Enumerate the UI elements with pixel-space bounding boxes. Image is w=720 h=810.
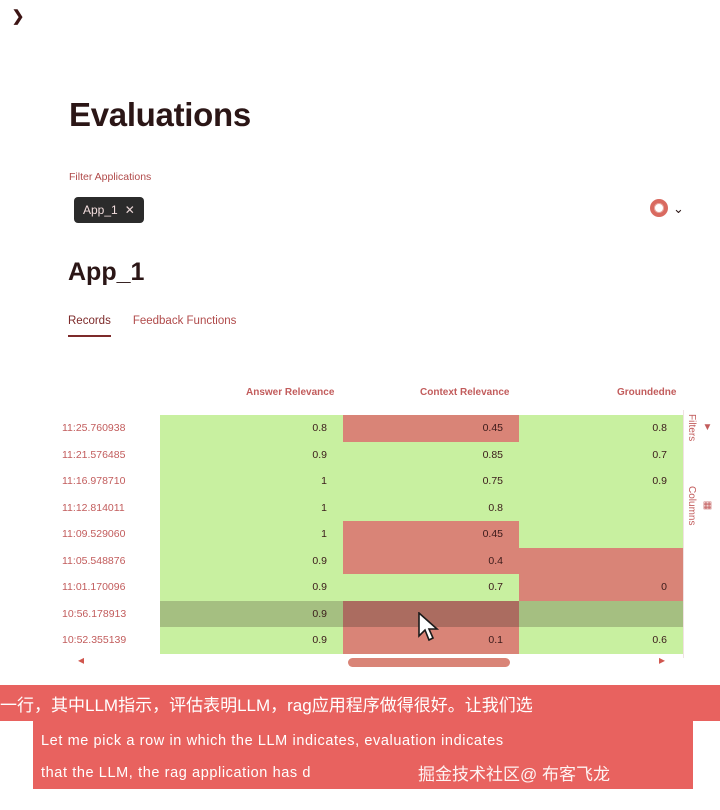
cell-groundedness[interactable]: 0.8 bbox=[519, 415, 683, 442]
cell-context-relevance[interactable]: 0.4 bbox=[343, 548, 519, 575]
cell-answer-relevance[interactable]: 0.9 bbox=[160, 574, 343, 601]
running-spinner-icon bbox=[650, 199, 668, 217]
column-header-answer-relevance[interactable]: Answer Relevance bbox=[246, 387, 334, 398]
table-header-row: Answer Relevance Context Relevance Groun… bbox=[0, 385, 720, 415]
table-row[interactable]: 11:25.7609380.80.450.8 bbox=[0, 415, 720, 442]
cell-timestamp: 11:25.760938 bbox=[62, 415, 152, 442]
cell-groundedness[interactable] bbox=[519, 495, 683, 522]
chevron-down-icon[interactable]: ⌄ bbox=[673, 201, 684, 217]
columns-button[interactable]: ▦ Columns bbox=[686, 486, 712, 525]
cell-groundedness[interactable] bbox=[519, 601, 683, 628]
cell-answer-relevance[interactable]: 1 bbox=[160, 468, 343, 495]
horizontal-scroll-row: ◂ ▸ bbox=[0, 650, 720, 672]
table-row[interactable]: 11:21.5764850.90.850.7 bbox=[0, 442, 720, 469]
cell-context-relevance[interactable]: 0.45 bbox=[343, 521, 519, 548]
table-body: 11:25.7609380.80.450.811:21.5764850.90.8… bbox=[0, 415, 720, 655]
cell-context-relevance[interactable]: 0.8 bbox=[343, 495, 519, 522]
cell-timestamp: 11:05.548876 bbox=[62, 548, 152, 575]
filter-chip-app1[interactable]: App_1 ✕ bbox=[74, 197, 144, 223]
subtitle-english-line1: Let me pick a row in which the LLM indic… bbox=[41, 725, 685, 757]
cell-context-relevance[interactable] bbox=[343, 601, 519, 628]
filter-chip-label: App_1 bbox=[83, 203, 118, 217]
cell-groundedness[interactable]: 0.7 bbox=[519, 442, 683, 469]
cell-groundedness[interactable]: 0.9 bbox=[519, 468, 683, 495]
filter-applications-label: Filter Applications bbox=[69, 171, 151, 183]
tab-bar: Records Feedback Functions bbox=[68, 315, 236, 337]
table-row[interactable]: 11:05.5488760.90.4 bbox=[0, 548, 720, 575]
cell-context-relevance[interactable]: 0.85 bbox=[343, 442, 519, 469]
cell-answer-relevance[interactable]: 0.8 bbox=[160, 415, 343, 442]
cell-groundedness[interactable] bbox=[519, 521, 683, 548]
cell-answer-relevance[interactable]: 0.9 bbox=[160, 601, 343, 628]
table-row[interactable]: 10:56.1789130.9 bbox=[0, 601, 720, 628]
cell-context-relevance[interactable]: 0.45 bbox=[343, 415, 519, 442]
right-toolbar: ▼ Filters ▦ Columns bbox=[683, 410, 707, 658]
watermark: 掘金技术社区@ 布客飞龙 bbox=[418, 760, 610, 785]
scrollbar-thumb[interactable] bbox=[348, 658, 510, 667]
subtitle-chinese: 一行，其中LLM指示，评估表明LLM，rag应用程序做得很好。让我们选 bbox=[0, 685, 720, 721]
table-row[interactable]: 11:12.81401110.8 bbox=[0, 495, 720, 522]
page-title: Evaluations bbox=[69, 96, 251, 134]
cell-timestamp: 11:12.814011 bbox=[62, 495, 152, 522]
scrollbar-track[interactable] bbox=[160, 658, 680, 666]
cell-timestamp: 11:09.529060 bbox=[62, 521, 152, 548]
cell-answer-relevance[interactable]: 0.9 bbox=[160, 548, 343, 575]
cell-answer-relevance[interactable]: 1 bbox=[160, 495, 343, 522]
cell-groundedness[interactable]: 0 bbox=[519, 574, 683, 601]
funnel-icon: ▼ bbox=[702, 422, 712, 433]
cell-timestamp: 11:01.170096 bbox=[62, 574, 152, 601]
cell-timestamp: 11:16.978710 bbox=[62, 468, 152, 495]
cell-context-relevance[interactable]: 0.75 bbox=[343, 468, 519, 495]
column-header-groundedness[interactable]: Groundedne bbox=[617, 387, 676, 398]
filters-label: Filters bbox=[686, 414, 697, 441]
tab-records[interactable]: Records bbox=[68, 315, 111, 337]
close-icon[interactable]: ✕ bbox=[125, 203, 135, 217]
records-table: Answer Relevance Context Relevance Groun… bbox=[0, 385, 720, 655]
filters-button[interactable]: ▼ Filters bbox=[686, 414, 712, 441]
table-row[interactable]: 11:09.52906010.45 bbox=[0, 521, 720, 548]
cell-answer-relevance[interactable]: 0.9 bbox=[160, 442, 343, 469]
app-title: App_1 bbox=[68, 258, 144, 287]
evaluations-page: ❯ Evaluations Filter Applications App_1 … bbox=[0, 0, 720, 810]
table-row[interactable]: 11:16.97871010.750.9 bbox=[0, 468, 720, 495]
grid-icon: ▦ bbox=[702, 500, 712, 511]
chevron-right-icon[interactable]: ❯ bbox=[8, 6, 28, 26]
cell-timestamp: 10:56.178913 bbox=[62, 601, 152, 628]
triangle-left-icon[interactable]: ◂ bbox=[78, 653, 84, 667]
cell-context-relevance[interactable]: 0.7 bbox=[343, 574, 519, 601]
cell-answer-relevance[interactable]: 1 bbox=[160, 521, 343, 548]
table-row[interactable]: 11:01.1700960.90.70 bbox=[0, 574, 720, 601]
tab-feedback-functions[interactable]: Feedback Functions bbox=[133, 315, 237, 337]
columns-label: Columns bbox=[686, 486, 697, 525]
column-header-context-relevance[interactable]: Context Relevance bbox=[420, 387, 509, 398]
cell-groundedness[interactable] bbox=[519, 548, 683, 575]
cell-timestamp: 11:21.576485 bbox=[62, 442, 152, 469]
